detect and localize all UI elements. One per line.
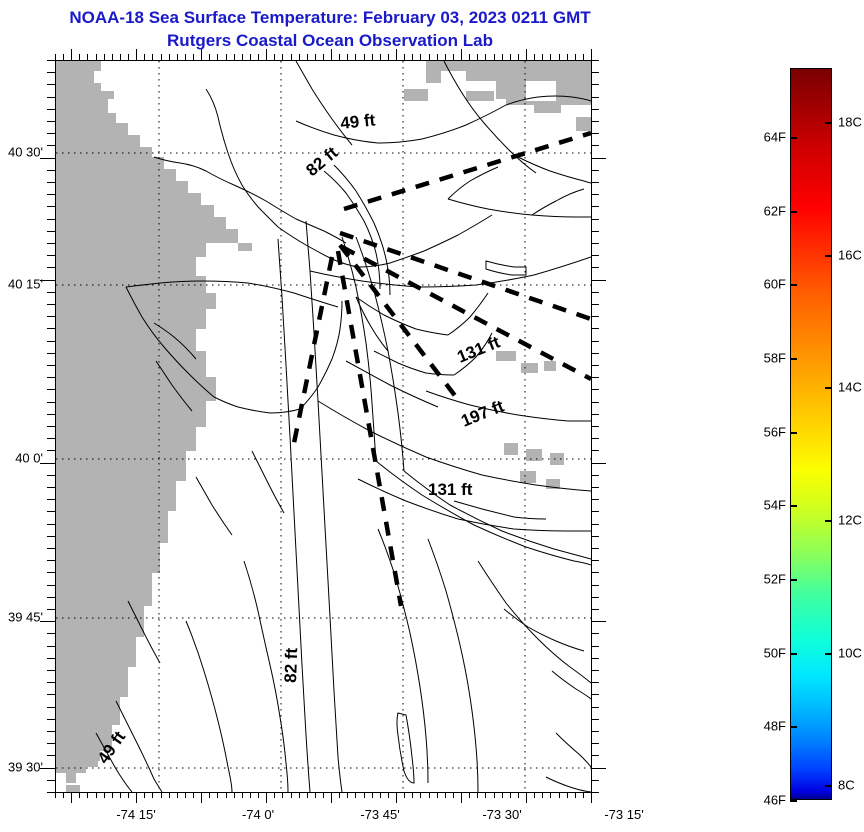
axis-tick — [136, 49, 137, 60]
axis-tick — [510, 54, 511, 60]
page-title: NOAA-18 Sea Surface Temperature: Februar… — [0, 6, 660, 52]
axis-tick — [315, 792, 316, 798]
axis-tick — [40, 158, 55, 159]
axis-tick — [47, 316, 55, 317]
axis-tick — [591, 731, 599, 732]
axis-tick — [591, 536, 599, 537]
colorbar-fahrenheit-label: 60F — [764, 277, 786, 292]
axis-tick — [534, 54, 535, 60]
axis-tick — [388, 54, 389, 60]
colorbar-gradient — [790, 68, 832, 800]
axis-tick — [47, 267, 55, 268]
axis-tick — [575, 54, 576, 60]
axis-tick — [591, 572, 599, 573]
axis-tick — [47, 511, 55, 512]
axis-tick — [469, 54, 470, 60]
colorbar-celsius-label: 12C — [838, 513, 862, 528]
axis-tick — [591, 280, 606, 281]
axis-tick — [591, 121, 599, 122]
axis-tick — [559, 54, 560, 60]
axis-tick — [47, 670, 55, 671]
axis-tick — [331, 49, 332, 60]
axis-tick — [144, 54, 145, 60]
axis-tick — [128, 54, 129, 60]
colorbar-fahrenheit-label: 52F — [764, 572, 786, 587]
axis-tick — [47, 133, 55, 134]
axis-tick — [412, 54, 413, 60]
axis-tick — [96, 54, 97, 60]
axis-tick — [47, 438, 55, 439]
temperature-colorbar[interactable]: 64F62F60F58F56F54F52F50F48F46F18C16C14C1… — [790, 68, 832, 800]
colorbar-tick — [790, 726, 797, 728]
axis-tick — [591, 524, 599, 525]
axis-tick — [591, 328, 599, 329]
axis-tick — [591, 97, 599, 98]
colorbar-fahrenheit-label: 58F — [764, 351, 786, 366]
colorbar-tick — [790, 653, 797, 655]
axis-tick — [323, 792, 324, 798]
axis-tick — [591, 426, 599, 427]
axis-tick — [591, 182, 599, 183]
axis-tick — [591, 743, 599, 744]
axis-tick — [396, 49, 397, 60]
axis-tick — [40, 280, 55, 281]
axis-tick — [445, 792, 446, 798]
colorbar-tick — [790, 284, 797, 286]
axis-tick — [47, 219, 55, 220]
axis-tick — [234, 792, 235, 798]
axis-tick — [591, 243, 599, 244]
axis-tick — [591, 487, 599, 488]
axis-tick — [518, 54, 519, 60]
axis-tick — [502, 792, 503, 798]
colorbar-tick — [790, 137, 797, 139]
colorbar-tick — [790, 211, 797, 213]
axis-tick — [266, 49, 267, 60]
axis-tick — [502, 54, 503, 60]
axis-tick — [591, 670, 599, 671]
axis-tick — [339, 792, 340, 798]
axis-tick — [591, 609, 599, 610]
depth-label: 49 ft — [339, 110, 376, 133]
axis-tick — [193, 54, 194, 60]
axis-tick — [47, 450, 55, 451]
axis-tick — [347, 792, 348, 798]
axis-tick — [550, 792, 551, 798]
axis-tick — [591, 548, 599, 549]
sst-map-graphic: 49 ft 82 ft 131 ft 197 ft 131 ft 82 ft 4… — [56, 61, 591, 792]
colorbar-tick — [790, 800, 797, 802]
axis-tick — [461, 49, 462, 60]
axis-tick — [47, 633, 55, 634]
colorbar-celsius-label: 14C — [838, 380, 862, 395]
y-axis-tick-label: 39 30' — [0, 760, 43, 775]
axis-tick — [104, 792, 105, 798]
axis-tick — [71, 49, 72, 60]
x-axis-tick-label: -74 15' — [116, 807, 155, 822]
axis-tick — [591, 60, 599, 61]
axis-tick — [542, 792, 543, 798]
axis-tick — [380, 792, 381, 798]
axis-tick — [485, 792, 486, 798]
axis-tick — [47, 182, 55, 183]
axis-tick — [591, 158, 606, 159]
title-line-2: Rutgers Coastal Ocean Observation Lab — [0, 29, 660, 52]
axis-tick — [542, 54, 543, 60]
axis-tick — [412, 792, 413, 798]
axis-tick — [559, 792, 560, 798]
axis-tick — [372, 54, 373, 60]
axis-tick — [47, 60, 55, 61]
axis-tick — [591, 353, 599, 354]
axis-tick — [591, 511, 599, 512]
axis-tick — [47, 145, 55, 146]
axis-tick — [494, 54, 495, 60]
axis-tick — [226, 792, 227, 798]
axis-tick — [372, 792, 373, 798]
depth-label: 131 ft — [428, 480, 473, 499]
axis-tick — [47, 487, 55, 488]
axis-tick — [591, 84, 599, 85]
axis-tick — [461, 792, 462, 803]
axis-tick — [591, 133, 599, 134]
colorbar-fahrenheit-label: 50F — [764, 645, 786, 660]
axis-tick — [47, 585, 55, 586]
axis-tick — [591, 255, 599, 256]
colorbar-tick — [790, 505, 797, 507]
axis-tick — [144, 792, 145, 798]
axis-tick — [47, 292, 55, 293]
axis-tick — [591, 316, 599, 317]
axis-tick — [47, 194, 55, 195]
axis-tick — [534, 792, 535, 798]
axis-tick — [177, 792, 178, 798]
axis-tick — [242, 792, 243, 798]
colorbar-fahrenheit-label: 56F — [764, 424, 786, 439]
axis-tick — [209, 54, 210, 60]
title-line-1: NOAA-18 Sea Surface Temperature: Februar… — [0, 6, 660, 29]
axis-tick — [299, 792, 300, 798]
axis-tick — [396, 792, 397, 803]
axis-tick — [591, 145, 599, 146]
axis-tick — [404, 54, 405, 60]
axis-tick — [364, 54, 365, 60]
axis-tick — [355, 54, 356, 60]
colorbar-fahrenheit-label: 46F — [764, 793, 786, 808]
axis-tick — [47, 389, 55, 390]
axis-tick — [87, 54, 88, 60]
axis-tick — [47, 109, 55, 110]
y-axis-tick-label: 40 0' — [0, 451, 43, 466]
axis-tick — [591, 792, 599, 793]
colorbar-tick — [790, 579, 797, 581]
axis-tick — [453, 54, 454, 60]
axis-tick — [591, 768, 606, 769]
axis-tick — [152, 54, 153, 60]
axis-tick — [47, 97, 55, 98]
axis-tick — [591, 389, 599, 390]
axis-tick — [591, 694, 599, 695]
axis-tick — [583, 792, 584, 798]
axis-tick — [128, 792, 129, 798]
axis-tick — [47, 377, 55, 378]
axis-tick — [591, 219, 599, 220]
axis-tick — [96, 792, 97, 798]
axis-tick — [47, 72, 55, 73]
axis-tick — [315, 54, 316, 60]
axis-tick — [591, 206, 599, 207]
axis-tick — [258, 792, 259, 798]
axis-tick — [591, 585, 599, 586]
axis-tick — [567, 792, 568, 798]
axis-tick — [453, 792, 454, 798]
axis-tick — [242, 54, 243, 60]
axis-tick — [47, 743, 55, 744]
colorbar-tick — [825, 255, 832, 257]
axis-tick — [258, 54, 259, 60]
axis-tick — [47, 597, 55, 598]
axis-tick — [63, 54, 64, 60]
sst-map-panel[interactable]: 49 ft 82 ft 131 ft 197 ft 131 ft 82 ft 4… — [55, 60, 592, 793]
axis-tick — [40, 768, 55, 769]
axis-tick — [591, 560, 599, 561]
axis-tick — [47, 231, 55, 232]
axis-tick — [47, 353, 55, 354]
axis-tick — [323, 54, 324, 60]
axis-tick — [274, 792, 275, 798]
axis-tick — [47, 719, 55, 720]
axis-tick — [47, 609, 55, 610]
colorbar-celsius-label: 16C — [838, 247, 862, 262]
axis-tick — [388, 792, 389, 798]
axis-tick — [347, 54, 348, 60]
axis-tick — [47, 731, 55, 732]
axis-tick — [201, 49, 202, 60]
axis-tick — [591, 621, 606, 622]
axis-tick — [47, 414, 55, 415]
y-axis-tick-label: 40 15' — [0, 277, 43, 292]
axis-tick — [120, 792, 121, 798]
axis-tick — [47, 121, 55, 122]
axis-tick — [47, 341, 55, 342]
axis-tick — [591, 646, 599, 647]
axis-tick — [47, 694, 55, 695]
axis-tick — [437, 54, 438, 60]
axis-tick — [591, 475, 599, 476]
axis-tick — [485, 54, 486, 60]
axis-tick — [136, 792, 137, 803]
axis-tick — [591, 450, 599, 451]
axis-tick — [583, 54, 584, 60]
axis-tick — [161, 54, 162, 60]
axis-tick — [47, 499, 55, 500]
axis-tick — [591, 109, 599, 110]
axis-tick — [250, 54, 251, 60]
axis-tick — [404, 792, 405, 798]
axis-tick — [104, 54, 105, 60]
x-axis-tick-label: -73 30' — [482, 807, 521, 822]
screenshot-root: NOAA-18 Sea Surface Temperature: Februar… — [0, 0, 864, 832]
axis-tick — [47, 646, 55, 647]
colorbar-celsius-label: 18C — [838, 115, 862, 130]
colorbar-celsius-label: 8C — [838, 778, 855, 793]
axis-tick — [429, 792, 430, 798]
axis-tick — [575, 792, 576, 798]
colorbar-fahrenheit-label: 64F — [764, 130, 786, 145]
axis-tick — [266, 792, 267, 803]
axis-tick — [40, 621, 55, 622]
axis-tick — [550, 54, 551, 60]
axis-tick — [47, 328, 55, 329]
axis-tick — [591, 438, 599, 439]
axis-tick — [87, 792, 88, 798]
axis-tick — [307, 792, 308, 798]
axis-tick — [591, 597, 599, 598]
axis-tick — [518, 792, 519, 798]
axis-tick — [169, 54, 170, 60]
y-axis-tick-label: 40 30' — [0, 145, 43, 160]
axis-tick — [591, 682, 599, 683]
axis-tick — [282, 54, 283, 60]
axis-tick — [591, 231, 599, 232]
axis-tick — [47, 304, 55, 305]
axis-tick — [380, 54, 381, 60]
axis-tick — [420, 792, 421, 798]
axis-tick — [339, 54, 340, 60]
axis-tick — [591, 341, 599, 342]
axis-tick — [526, 49, 527, 60]
colorbar-fahrenheit-label: 54F — [764, 498, 786, 513]
axis-tick — [591, 402, 599, 403]
axis-tick — [234, 54, 235, 60]
axis-tick — [209, 792, 210, 798]
axis-tick — [591, 170, 599, 171]
axis-tick — [591, 463, 606, 464]
axis-tick — [307, 54, 308, 60]
axis-tick — [161, 792, 162, 798]
x-axis-tick-label: -73 45' — [360, 807, 399, 822]
axis-tick — [567, 54, 568, 60]
axis-tick — [71, 792, 72, 803]
axis-tick — [591, 304, 599, 305]
axis-tick — [591, 414, 599, 415]
axis-tick — [591, 780, 599, 781]
colorbar-tick — [825, 387, 832, 389]
axis-tick — [79, 54, 80, 60]
axis-tick — [217, 792, 218, 798]
axis-tick — [47, 572, 55, 573]
axis-tick — [185, 792, 186, 798]
axis-tick — [47, 475, 55, 476]
axis-tick — [185, 54, 186, 60]
axis-tick — [510, 792, 511, 798]
axis-tick — [226, 54, 227, 60]
axis-tick — [47, 560, 55, 561]
colorbar-tick — [825, 653, 832, 655]
axis-tick — [152, 792, 153, 798]
axis-tick — [169, 792, 170, 798]
axis-tick — [47, 658, 55, 659]
axis-tick — [250, 792, 251, 798]
axis-tick — [47, 402, 55, 403]
colorbar-tick — [790, 432, 797, 434]
axis-tick — [47, 84, 55, 85]
x-axis-tick-label: -73 15' — [604, 807, 643, 822]
colorbar-tick — [825, 785, 832, 787]
axis-tick — [47, 170, 55, 171]
axis-tick — [120, 54, 121, 60]
axis-tick — [47, 548, 55, 549]
axis-tick — [47, 707, 55, 708]
axis-tick — [331, 792, 332, 803]
colorbar-celsius-label: 10C — [838, 645, 862, 660]
axis-tick — [364, 792, 365, 798]
axis-tick — [201, 792, 202, 803]
axis-tick — [477, 792, 478, 798]
axis-tick — [291, 792, 292, 798]
axis-tick — [55, 792, 56, 798]
axis-tick — [591, 707, 599, 708]
axis-tick — [47, 682, 55, 683]
colorbar-fahrenheit-label: 48F — [764, 719, 786, 734]
axis-tick — [591, 499, 599, 500]
axis-tick — [437, 792, 438, 798]
axis-tick — [299, 54, 300, 60]
axis-tick — [526, 792, 527, 803]
axis-tick — [47, 365, 55, 366]
axis-tick — [591, 658, 599, 659]
axis-tick — [291, 54, 292, 60]
axis-tick — [47, 536, 55, 537]
axis-tick — [47, 206, 55, 207]
axis-tick — [591, 292, 599, 293]
axis-tick — [429, 54, 430, 60]
axis-tick — [469, 792, 470, 798]
axis-tick — [79, 792, 80, 798]
axis-tick — [591, 755, 599, 756]
axis-tick — [477, 54, 478, 60]
y-axis-tick-label: 39 45' — [0, 610, 43, 625]
axis-tick — [591, 49, 592, 60]
axis-tick — [355, 792, 356, 798]
axis-tick — [591, 633, 599, 634]
axis-tick — [591, 267, 599, 268]
axis-tick — [591, 194, 599, 195]
axis-tick — [47, 792, 55, 793]
axis-tick — [591, 72, 599, 73]
x-axis-tick-label: -74 0' — [242, 807, 274, 822]
axis-tick — [591, 377, 599, 378]
depth-label: 82 ft — [281, 647, 301, 683]
axis-tick — [591, 365, 599, 366]
axis-tick — [274, 54, 275, 60]
axis-tick — [47, 243, 55, 244]
axis-tick — [47, 255, 55, 256]
colorbar-fahrenheit-label: 62F — [764, 203, 786, 218]
axis-tick — [282, 792, 283, 798]
axis-tick — [47, 524, 55, 525]
colorbar-tick — [825, 122, 832, 124]
colorbar-tick — [825, 520, 832, 522]
axis-tick — [193, 792, 194, 798]
axis-tick — [47, 780, 55, 781]
axis-tick — [494, 792, 495, 798]
axis-tick — [47, 426, 55, 427]
axis-tick — [63, 792, 64, 798]
axis-tick — [177, 54, 178, 60]
axis-tick — [112, 792, 113, 798]
axis-tick — [591, 792, 592, 803]
